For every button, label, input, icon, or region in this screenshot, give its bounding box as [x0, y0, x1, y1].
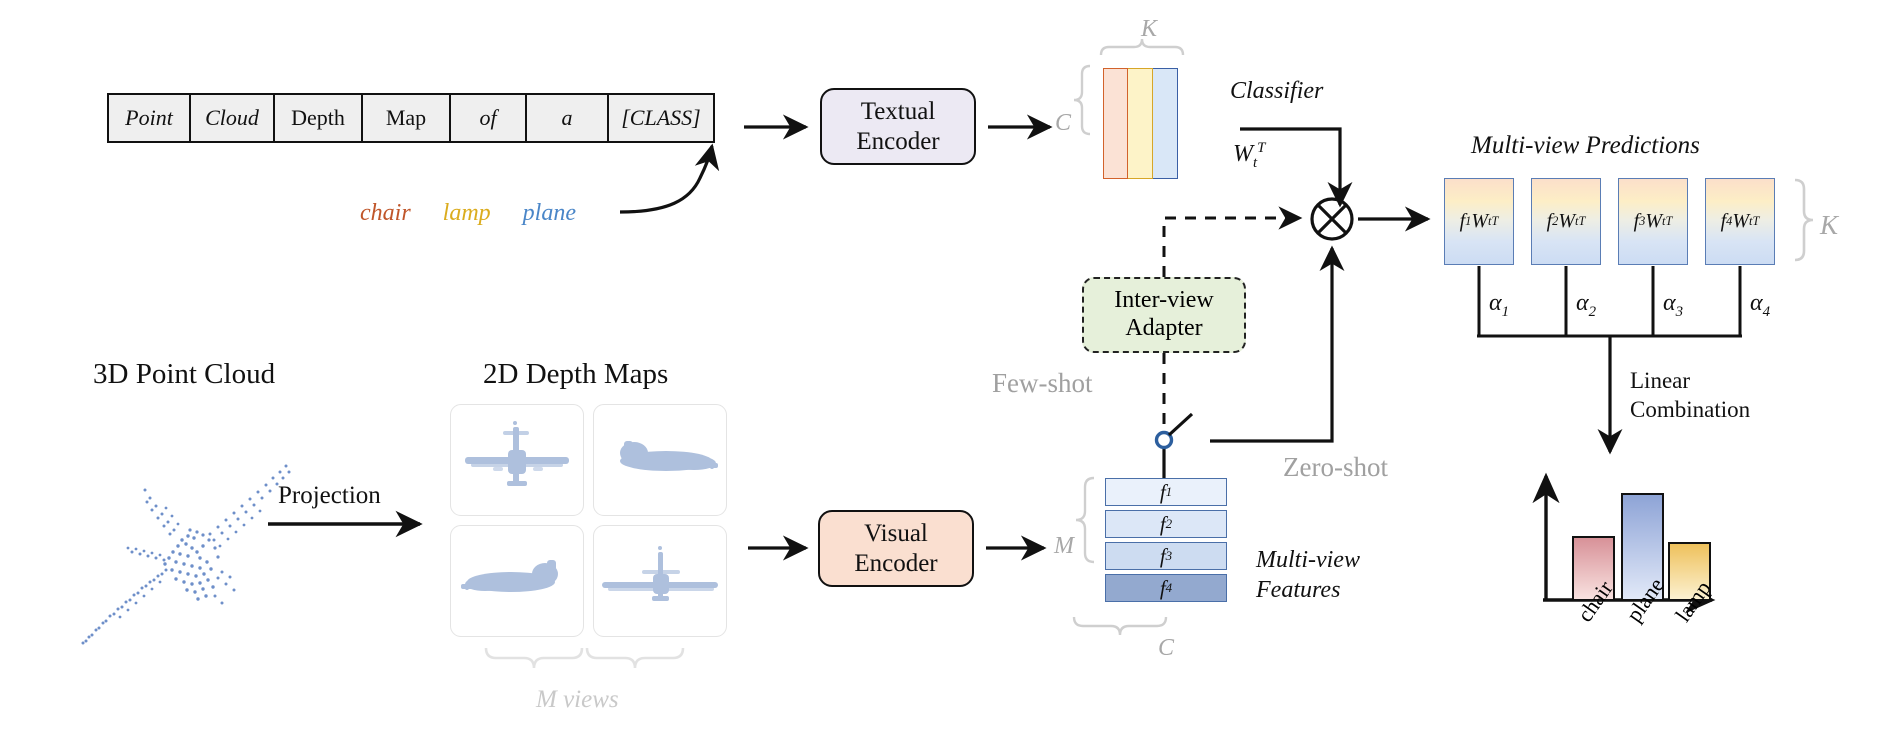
bar-chart-labels: chair plane lamp — [0, 0, 1882, 746]
bar-label-plane: plane — [1621, 573, 1670, 627]
bar-label-lamp: lamp — [1670, 576, 1717, 627]
bar-label-chair: chair — [1572, 576, 1619, 627]
diagram-canvas: Point Cloud Depth Map of a [CLASS] chair… — [0, 0, 1882, 746]
